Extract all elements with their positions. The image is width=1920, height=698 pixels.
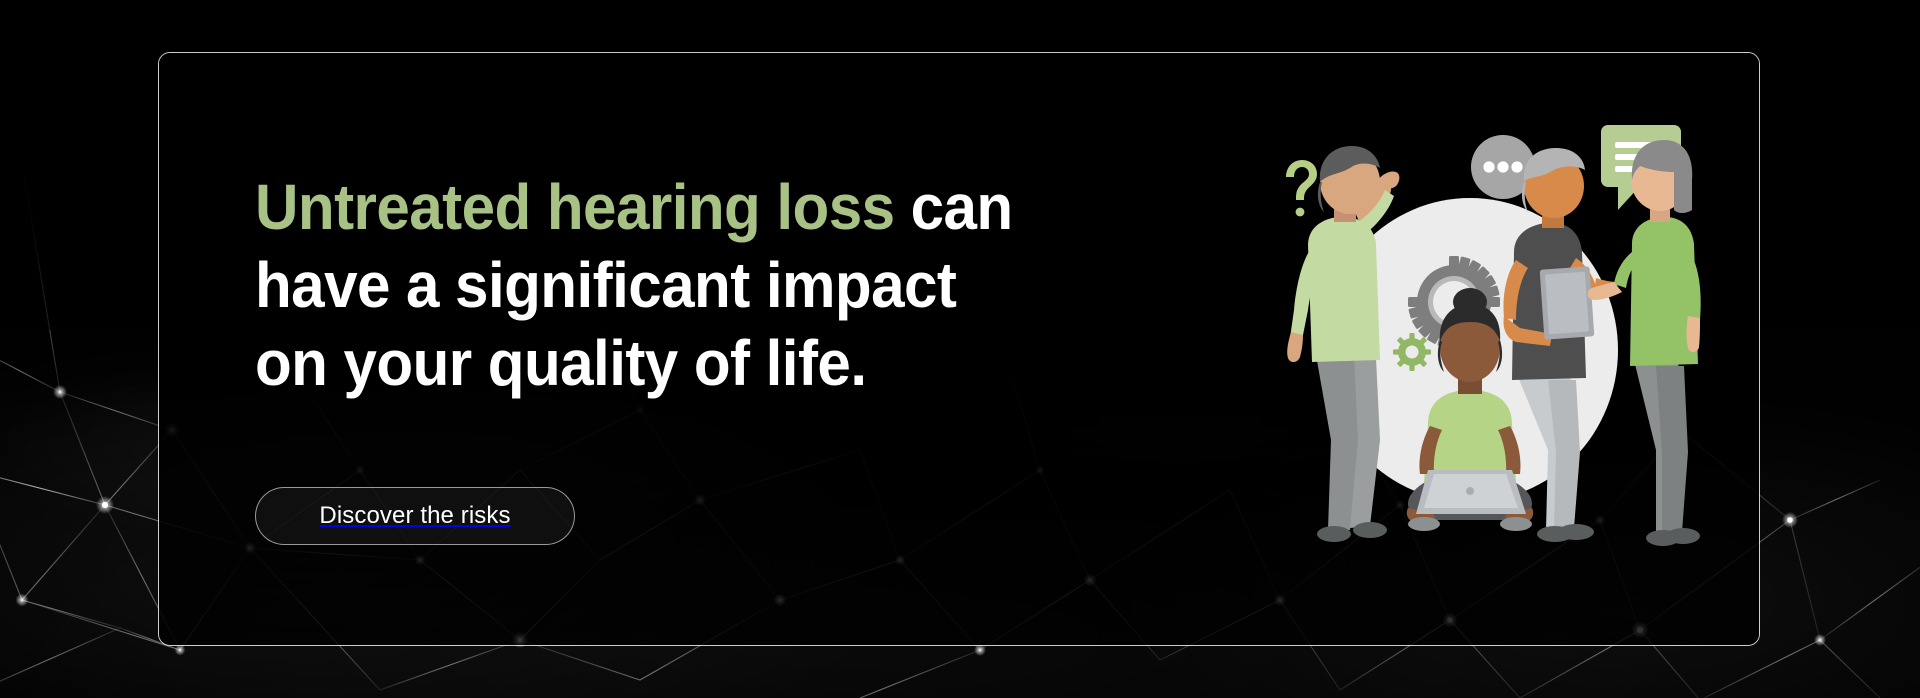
illustration-svg [1258,110,1718,550]
headline-line-3: on your quality of life. [255,324,1013,402]
headline-highlight: Untreated hearing loss [255,171,894,243]
people-collaboration-illustration [1258,110,1718,550]
cta-button-label: Discover the risks [319,502,510,530]
hearing-loss-banner: Untreated hearing loss can have a signif… [0,0,1920,698]
headline-line-1-rest: can [894,171,1012,243]
question-mark-icon [1286,160,1317,216]
headline-line-2: have a significant impact [255,246,1013,324]
page-title: Untreated hearing loss can have a signif… [255,168,1013,402]
gear-icon-small-green [1393,333,1431,371]
headline-line-1: Untreated hearing loss can [255,168,1013,246]
discover-the-risks-button[interactable]: Discover the risks [255,487,575,545]
